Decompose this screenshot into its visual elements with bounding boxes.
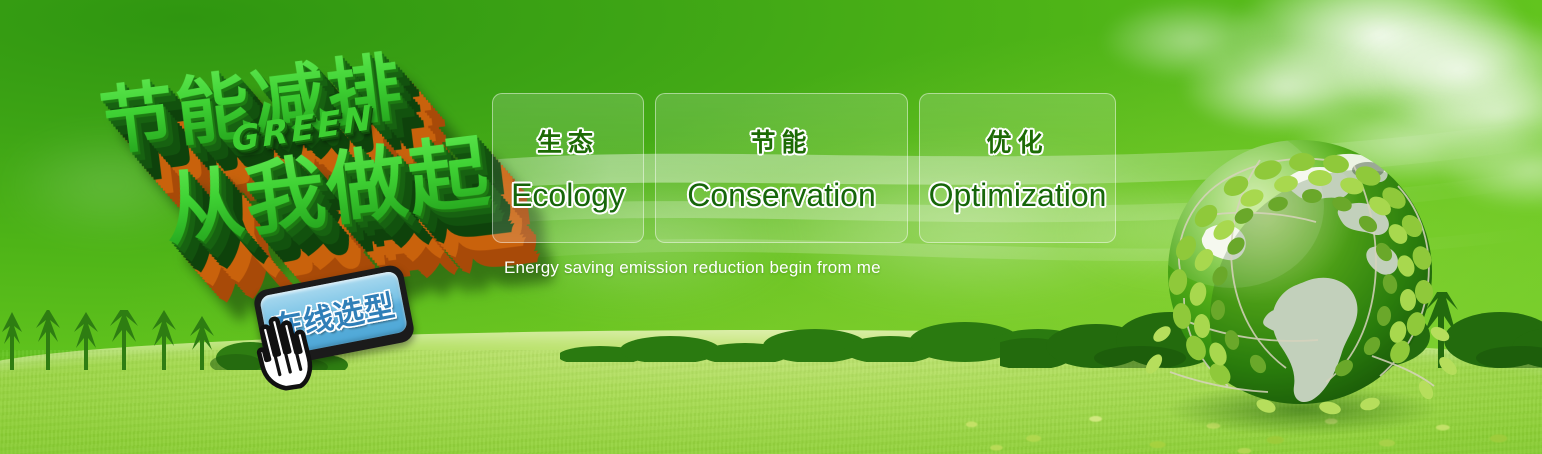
hand-pointer-icon [243, 312, 329, 398]
feature-card-list: 生态 Ecology 节能 Conservation 优化 Optimizati… [492, 93, 1116, 243]
eco-hero-banner: 节能减排 GREEN 从我做起 在线选型 生态 Ecology 节能 Conse… [0, 0, 1542, 454]
leafy-green-globe-icon [1140, 120, 1460, 440]
hero-headline: 节能减排 GREEN 从我做起 [83, 14, 508, 291]
feature-card-cn-label: 节能 [750, 123, 812, 159]
feature-card-conservation[interactable]: 节能 Conservation [655, 93, 908, 243]
feature-card-ecology[interactable]: 生态 Ecology [492, 93, 644, 243]
feature-card-en-label: Conservation [687, 177, 876, 214]
feature-card-cn-label: 优化 [986, 123, 1048, 159]
feature-card-optimization[interactable]: 优化 Optimization [919, 93, 1116, 243]
hero-tagline: Energy saving emission reduction begin f… [504, 258, 881, 278]
feature-card-en-label: Optimization [929, 177, 1107, 214]
feature-card-en-label: Ecology [511, 177, 625, 214]
feature-card-cn-label: 生态 [537, 123, 599, 159]
